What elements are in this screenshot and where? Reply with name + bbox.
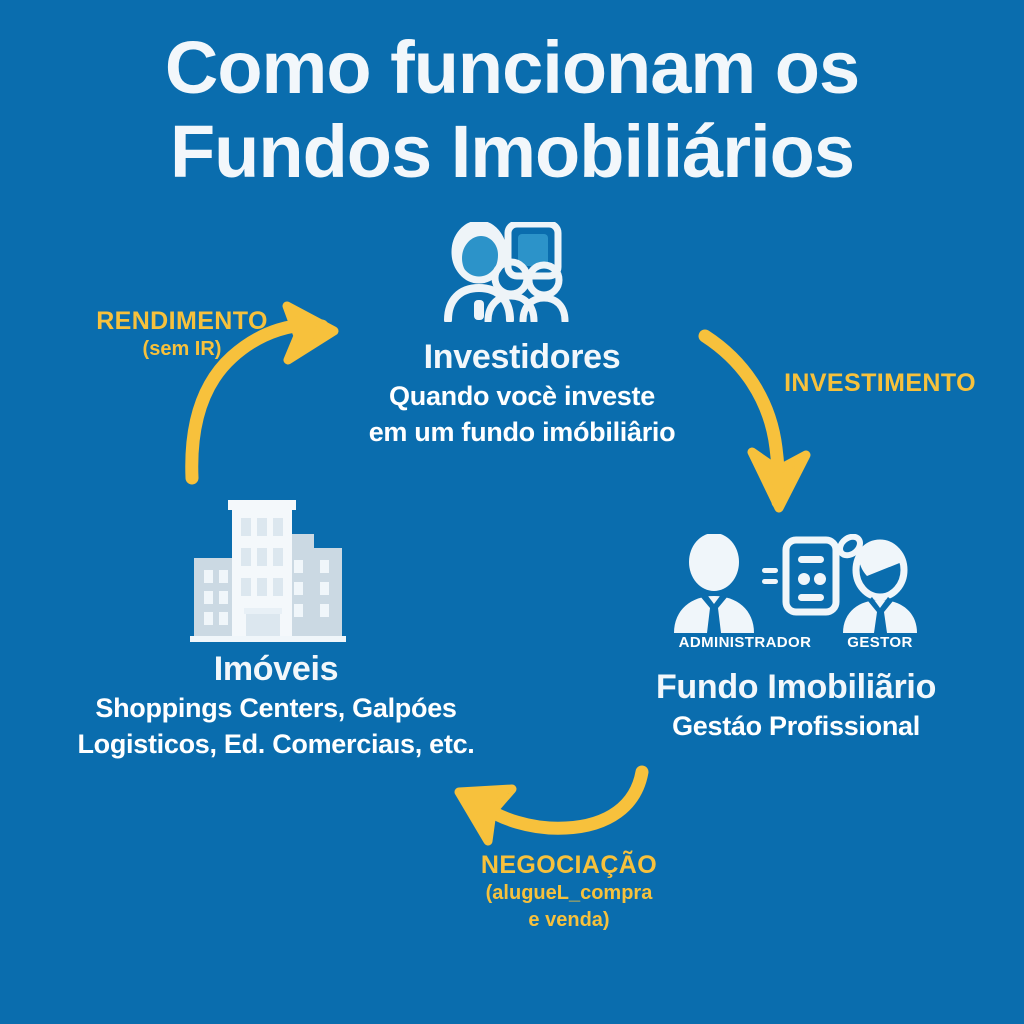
fund-icons-group <box>664 534 924 634</box>
gestor-caption: GESTOR <box>830 634 930 651</box>
manager-person-icon <box>843 543 917 633</box>
title-line-2: Fundos Imobiliários <box>0 110 1024 194</box>
negotiation-flow-label: NEGOCIAÇÃO (alugueL_compra e venda) <box>446 850 692 934</box>
yield-sublabel-text: (sem IR) <box>62 336 302 363</box>
title-line-1: Como funcionam os <box>165 26 859 109</box>
yield-flow-label: RENDIMENTO (sem IR) <box>62 306 302 363</box>
curved-arrow-left-icon <box>459 772 642 841</box>
fund-sub-line-1: Gestáo Profissional <box>596 708 996 744</box>
infographic-canvas: Como funcionam os Fundos Imobiliários <box>0 0 1024 1024</box>
administrator-caption: ADMINISTRADOR <box>640 634 850 651</box>
investors-sub-line-2: em um fundo imóbiliârio <box>312 414 732 450</box>
investors-heading: Investidores <box>312 336 732 378</box>
fund-heading: Fundo Imobiliãrio <box>596 666 996 708</box>
investment-flow-label: INVESTIMENTO <box>770 368 990 398</box>
negotiation-sublabel-line-1: (alugueL_compra <box>446 880 692 907</box>
investors-node: Investidores Quando vocè investe em um f… <box>312 336 732 450</box>
investors-sub-line-1: Quando vocè investe <box>312 378 732 414</box>
investors-group-icon <box>440 222 570 322</box>
properties-sub-line-2: Logisticos, Ed. Comerciaıs, etc. <box>40 726 512 762</box>
administrator-person-icon <box>674 534 754 633</box>
equals-icon <box>762 568 778 584</box>
document-report-icon <box>786 540 836 612</box>
investment-label-text: INVESTIMENTO <box>770 368 990 398</box>
fund-node: Fundo Imobiliãrio Gestáo Profissional <box>596 666 996 744</box>
properties-heading: Imóveis <box>40 648 512 690</box>
yield-label-text: RENDIMENTO <box>62 306 302 336</box>
buildings-icon <box>188 490 348 642</box>
properties-node: Imóveis Shoppings Centers, Galpóes Logis… <box>40 648 512 762</box>
page-title: Como funcionam os Fundos Imobiliários <box>0 26 1024 194</box>
negotiation-sublabel-line-2: e venda) <box>446 907 692 934</box>
properties-sub-line-1: Shoppings Centers, Galpóes <box>40 690 512 726</box>
negotiation-label-text: NEGOCIAÇÃO <box>446 850 692 880</box>
